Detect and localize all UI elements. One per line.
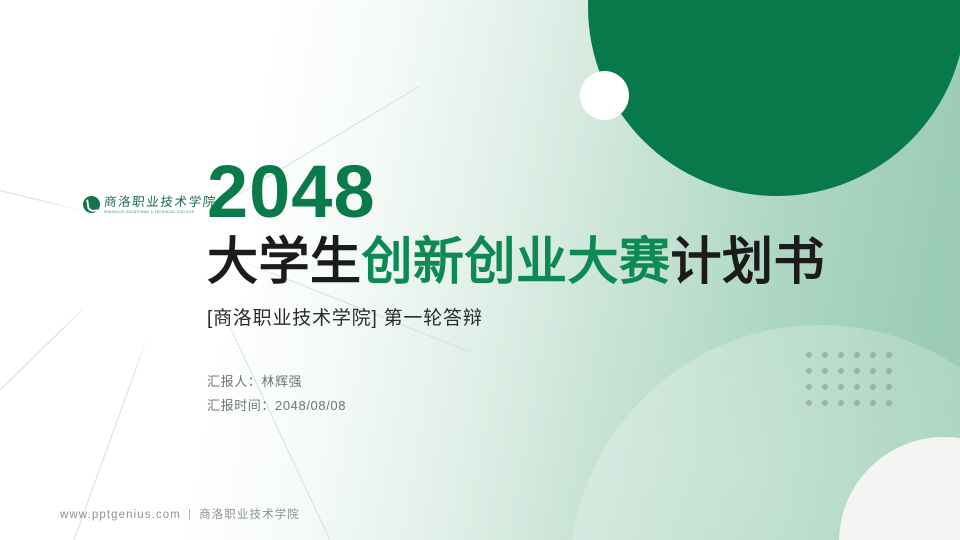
presentation-title-slide: 商洛职业技术学院 SHANGLUO VOCATIONAL & TECHNICAL…	[0, 0, 960, 540]
presentation-date: 汇报时间：2048/08/08	[207, 394, 346, 418]
footer-institution: 商洛职业技术学院	[199, 509, 300, 521]
leaf-circle-icon	[83, 196, 100, 213]
footer-website: www.pptgenius.com	[60, 509, 181, 521]
footer: www.pptgenius.com|商洛职业技术学院	[60, 506, 300, 522]
school-logo: 商洛职业技术学院 SHANGLUO VOCATIONAL & TECHNICAL…	[83, 196, 217, 214]
logo-name-cn: 商洛职业技术学院	[103, 196, 217, 209]
page-title: 大学生创新创业大赛计划书	[207, 234, 825, 289]
title-part-2: 创新创业大赛	[362, 233, 671, 290]
year-heading: 2048	[207, 155, 376, 229]
footer-separator: |	[188, 509, 192, 521]
presenter-meta: 汇报人：林辉强 汇报时间：2048/08/08	[207, 370, 346, 418]
logo-name-en: SHANGLUO VOCATIONAL & TECHNICAL COLLEGE	[104, 210, 217, 214]
dot-grid-pattern-icon	[806, 352, 902, 416]
subtitle: [商洛职业技术学院] 第一轮答辩	[207, 303, 483, 330]
small-white-circle-icon	[580, 71, 629, 120]
title-part-1: 大学生	[207, 233, 362, 290]
title-part-3: 计划书	[671, 233, 826, 290]
presenter-name: 汇报人：林辉强	[207, 370, 346, 394]
